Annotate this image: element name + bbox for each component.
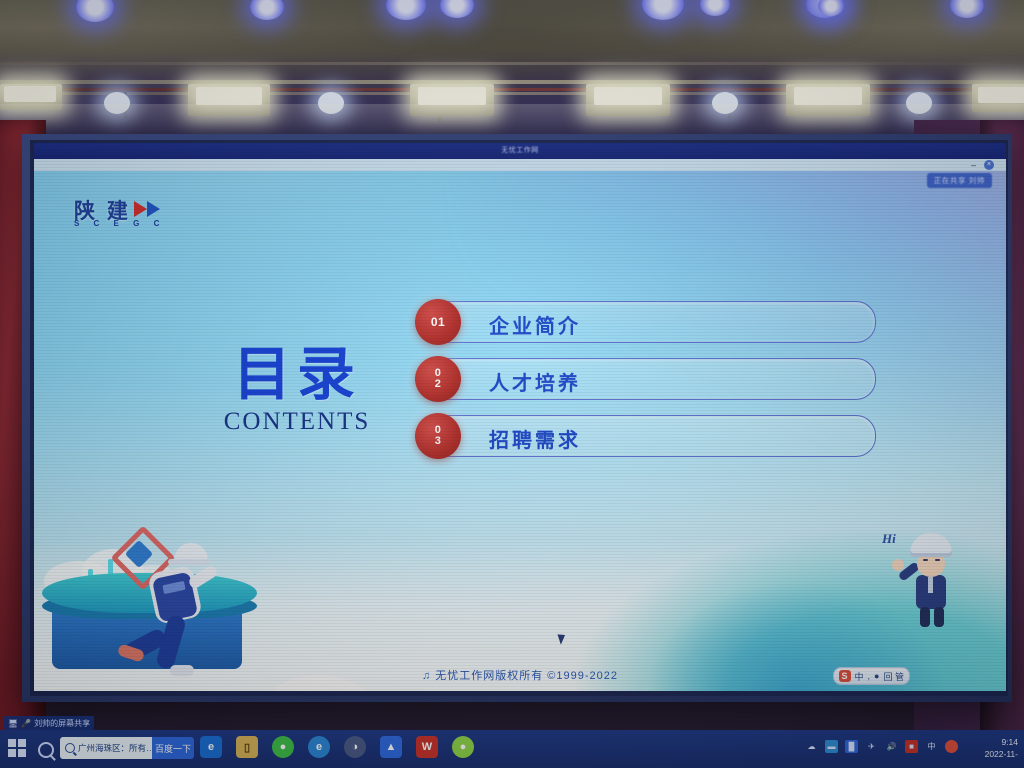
wps-icon[interactable]: W [416,736,438,758]
contents-title-block: 目录 CONTENTS [182,346,412,436]
waving-engineer-illustration: Hi [874,523,984,643]
system-tray: ☁ ▬ █ ✈ 🔊 ■ 中 [805,740,958,753]
page-title: 目录 [182,346,412,404]
presentation-slide: 陕 建 S C E G C 目录 CONTENTS 01 企业简介 [34,171,1006,691]
screen-share-badge: 正在共享 刘帅 [927,173,992,188]
greeting-text: Hi [882,531,896,547]
copyright-text: 无忧工作网版权所有 ©1999-2022 [435,670,618,682]
mic-icon[interactable]: ● [874,671,879,681]
magnifier-icon [65,743,75,753]
auditorium-photo: 无忧工作网 – × 正在共享 刘帅 陕 建 S C E G C 目录 CONTE… [0,0,1024,768]
truss-beam [0,80,1024,84]
window-title: 无忧工作网 [34,145,1006,155]
stage-light-face [196,87,262,105]
minimize-button[interactable]: – [971,160,976,170]
item-number: 01 [431,317,445,328]
truss-beam [0,92,1024,95]
worker-character [122,537,232,687]
mic-icon: 🎤 [21,719,31,728]
list-item[interactable]: 03 招聘需求 [426,415,876,457]
app2-icon[interactable]: ● [452,736,474,758]
app-icon[interactable]: ◑ [344,736,366,758]
search-icon[interactable] [38,742,54,758]
item-number-badge: 01 [415,299,461,345]
shield-icon[interactable]: ■ [905,740,918,753]
sogou-ime-bar[interactable]: S 中 , ● 回 管 [833,667,910,685]
wechat-icon[interactable]: ● [272,736,294,758]
ie-icon[interactable]: e [200,736,222,758]
pipe [0,88,1024,91]
list-item-label: 招聘需求 [489,424,581,453]
clock-time: 9:14 [985,736,1018,748]
truss-beam [0,62,1024,65]
clock-date: 2022-11- [985,748,1018,760]
close-button[interactable]: × [984,160,994,170]
list-item-label: 企业简介 [489,310,581,339]
running-construction-worker-illustration [34,476,294,691]
file-explorer-icon[interactable]: ▯ [236,736,258,758]
meeting-icon[interactable]: ▲ [380,736,402,758]
window-toolbar [34,159,1006,171]
arrow-logo-icon [134,198,170,220]
browser-window[interactable]: 无忧工作网 – × 正在共享 刘帅 陕 建 S C E G C 目录 CONTE… [34,143,1006,691]
item-number-badge: 02 [415,356,461,402]
baidu-search-button[interactable]: 百度一下 [152,737,194,759]
list-item-label: 人才培养 [489,367,581,396]
ime-mode-button[interactable]: 中 [855,670,864,683]
item-number: 02 [435,368,442,390]
stage-light-face [594,87,662,105]
music-note-icon: ♫ [422,670,431,682]
notify-icon[interactable] [945,740,958,753]
windows-taskbar[interactable]: 广州海珠区：所有… 百度一下 e ▯ ● e ◑ ▲ W ● ☁ ▬ █ ✈ 🔊… [0,730,1024,768]
taskbar-clock[interactable]: 9:14 2022-11- [985,736,1018,760]
share-cue-label: 刘帅的屏幕共享 [34,718,90,729]
stage-light-face [4,86,56,102]
item-number-badge: 03 [415,413,461,459]
contents-list: 01 企业简介 02 人才培养 03 招聘需求 [426,301,876,472]
item-number: 03 [435,425,442,447]
monitor-icon[interactable]: ▬ [825,740,838,753]
page-title-en: CONTENTS [182,408,412,436]
network-icon[interactable]: █ [845,740,858,753]
list-item[interactable]: 01 企业简介 [426,301,876,343]
list-item[interactable]: 02 人才培养 [426,358,876,400]
search-query: 广州海珠区：所有… [78,742,155,754]
stage-light-face [794,87,862,105]
start-button[interactable] [8,739,26,757]
light-haze [0,104,1024,138]
monitor-icon: 🖥 [8,719,18,728]
edge-icon[interactable]: e [308,736,330,758]
chat-icon[interactable]: ✈ [865,740,878,753]
stage-light-face [418,87,486,105]
comma-icon[interactable]: , [868,671,871,681]
taskbar-app-icons: e ▯ ● e ◑ ▲ W ● [200,736,474,758]
screen-share-indicator[interactable]: 🖥 🎤 刘帅的屏幕共享 [4,716,94,730]
logo-subtext: S C E G C [74,219,165,228]
sogou-logo-icon: S [839,670,851,682]
ime-cn-icon[interactable]: 中 [925,740,938,753]
ime-toolbox-button[interactable]: 回 管 [883,670,904,683]
stage-light-face [978,87,1024,103]
volume-icon[interactable]: 🔊 [885,740,898,753]
cloud-icon[interactable]: ☁ [805,740,818,753]
